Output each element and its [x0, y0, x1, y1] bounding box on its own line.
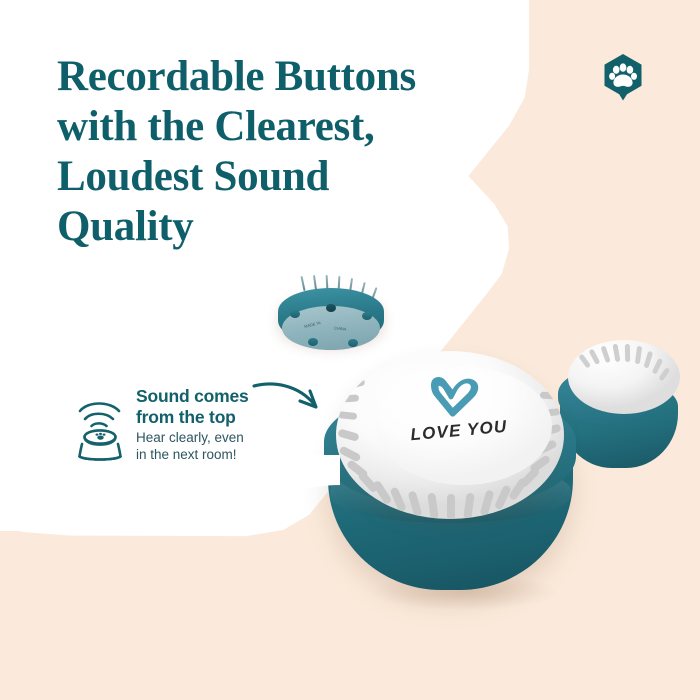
curved-pointer-arrow	[252, 372, 342, 428]
feature-subtitle-line-1: Hear clearly, even	[136, 430, 266, 447]
headline-line-3: Loudest Sound	[57, 152, 487, 202]
feature-text-block: Sound comes from the top Hear clearly, e…	[136, 386, 266, 463]
banner-stage: Recordable Buttons with the Clearest, Lo…	[0, 0, 700, 700]
feature-title: Sound comes from the top	[136, 386, 266, 427]
button-sound-waves-icon	[74, 392, 128, 464]
feature-title-line-1: Sound comes	[136, 386, 266, 407]
sound-icon-svg	[74, 392, 128, 464]
arrow-svg	[252, 372, 342, 428]
feature-subtitle: Hear clearly, even in the next room!	[136, 430, 266, 463]
feature-title-line-2: from the top	[136, 407, 266, 428]
paw-logo-svg	[600, 52, 646, 102]
headline-line-2: with the Clearest,	[57, 102, 487, 152]
panel-bottom-corner	[0, 455, 340, 545]
page-title: Recordable Buttons with the Clearest, Lo…	[57, 52, 487, 252]
headline-line-4: Quality	[57, 202, 487, 252]
paw-speech-bubble-logo	[600, 52, 646, 102]
feature-subtitle-line-2: in the next room!	[136, 447, 266, 464]
headline-line-1: Recordable Buttons	[57, 52, 487, 102]
